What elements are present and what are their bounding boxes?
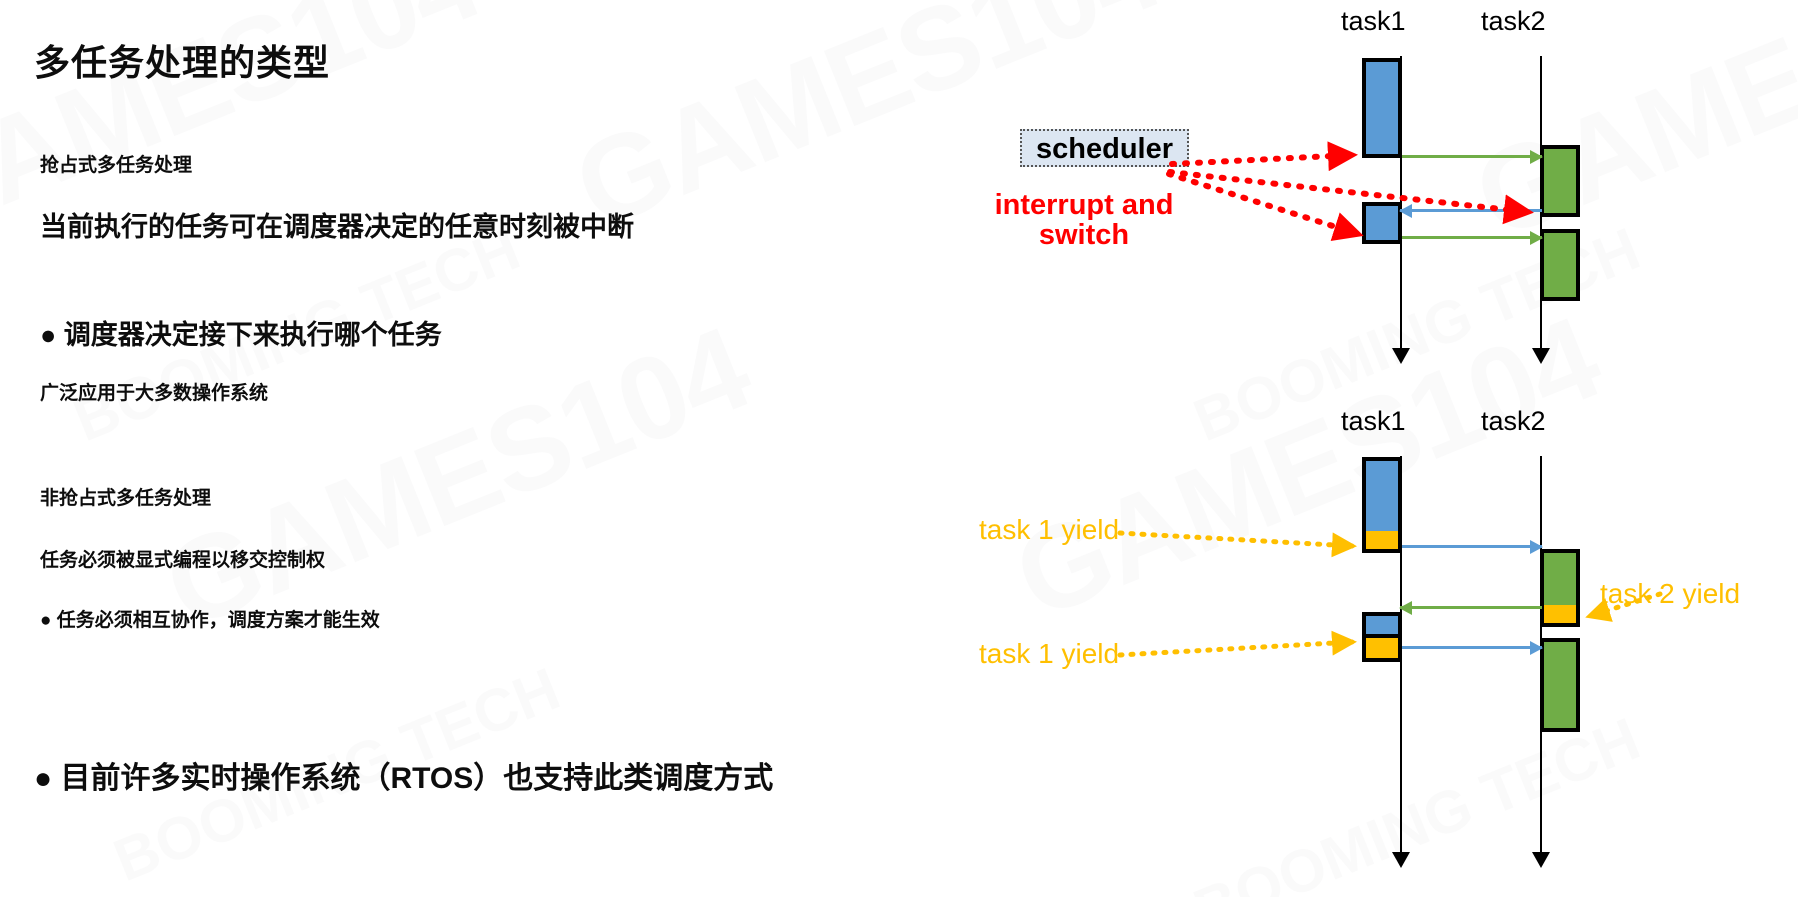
yield-pointer-task1-first <box>1120 533 1352 546</box>
yield-pointer-task1-second <box>1120 642 1352 655</box>
yield-pointer-group <box>0 0 1798 897</box>
slide-canvas: GAMES104GAMES104GAMES104GAMES104GAMES104… <box>0 0 1798 897</box>
cooperative-multitasking-diagram: task1 task2 task 1 yield task 2 yie <box>0 0 1798 897</box>
yield-pointer-task2 <box>1590 594 1660 616</box>
